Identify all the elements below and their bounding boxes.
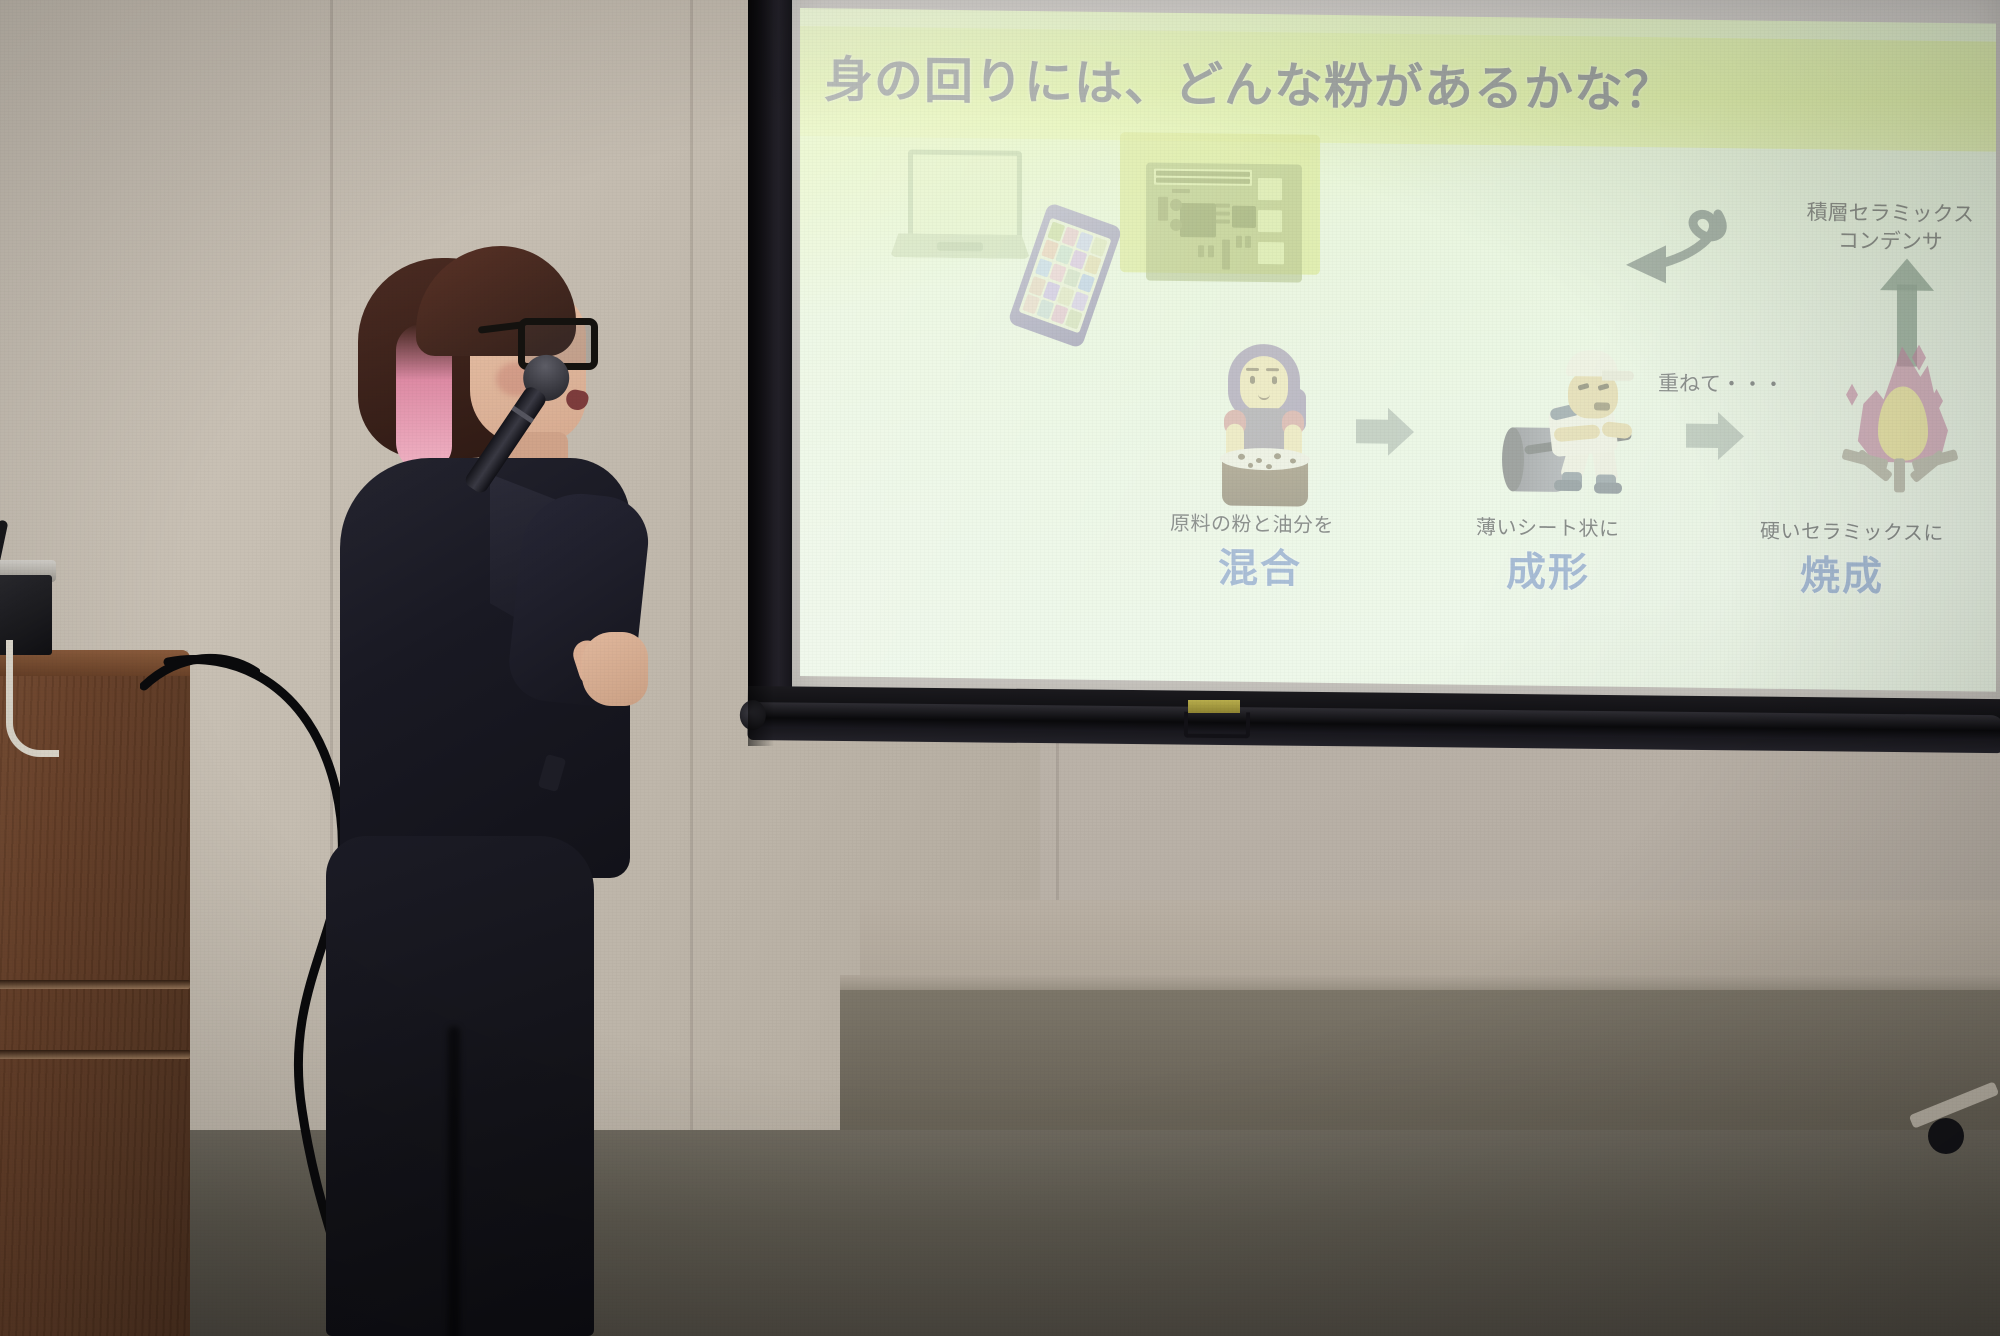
photo-grain bbox=[0, 0, 2000, 1336]
screenshot-root: 身の回りには、どんな粉があるかな？ bbox=[0, 0, 2000, 1336]
